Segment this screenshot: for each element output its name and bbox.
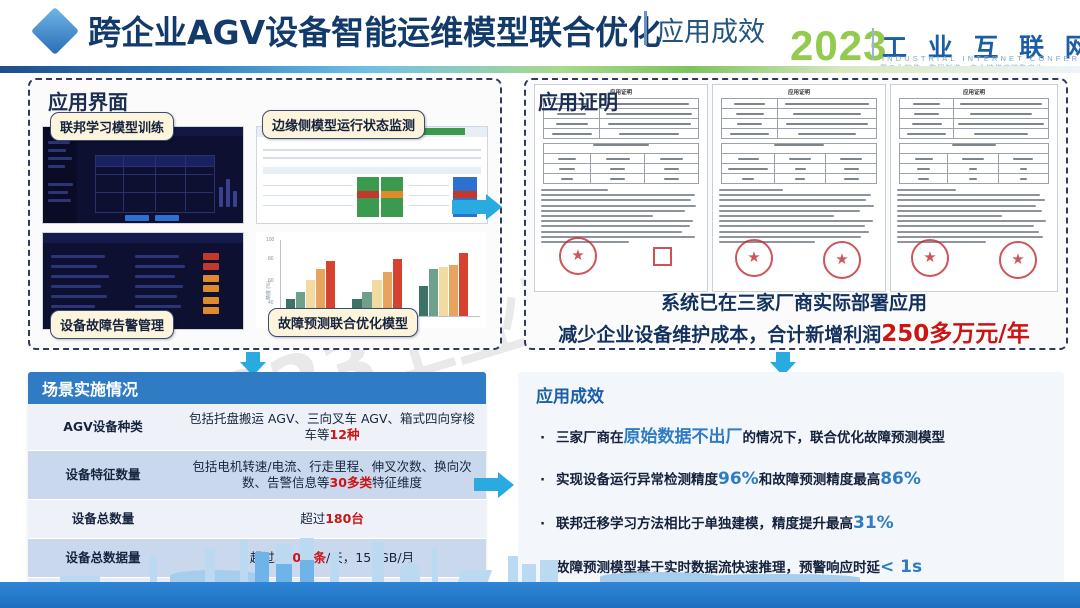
chip-edge-monitoring[interactable]: 边缘侧模型运行状态监测 xyxy=(262,110,425,139)
alarm-line xyxy=(135,255,179,258)
banner-line2-text: 减少企业设备维护成本，合计新增利润 xyxy=(558,324,881,346)
mon-table-header xyxy=(263,167,481,174)
list-item: ·实现设备运行异常检测精度96%和故障预测精度最高86% xyxy=(540,468,921,489)
mon-cell-red xyxy=(357,191,379,198)
chart-bar xyxy=(459,253,468,316)
list-item: ·联邦迁移学习方法相比于单独建模，精度提升最高31% xyxy=(540,512,894,533)
mon-row-line xyxy=(409,185,449,186)
certificate-card-3: 应用证明 xyxy=(890,84,1058,292)
table-row-value: 超过180台 xyxy=(178,511,486,528)
mon-divider xyxy=(263,157,481,159)
table-row: 设备特征数量包括电机转速/电流、行走里程、伸叉次数、换向次数、告警信息等30多类… xyxy=(28,451,486,500)
dash-side-line xyxy=(48,191,68,194)
alarm-line xyxy=(135,305,181,308)
bullet-dot: · xyxy=(540,472,556,488)
certificate-stamp xyxy=(911,239,949,277)
slide-header: 跨企业AGV设备智能运维模型联合优化 应用成效 2023 工 业 互 联 网 大… xyxy=(0,0,1080,68)
bullet-text: 联邦迁移学习方法相比于单独建模，精度提升最高 xyxy=(556,516,853,532)
mon-row-line xyxy=(263,205,353,206)
bullet-dot: · xyxy=(540,430,556,446)
dash-side-line xyxy=(48,157,72,160)
table-row-value: 包括托盘搬运 AGV、三向叉车 AGV、箱式四向穿梭车等12种 xyxy=(178,411,486,444)
chart-bars xyxy=(281,240,480,316)
chart-ytick: 40 xyxy=(268,300,274,306)
dash-table-divider xyxy=(95,174,213,175)
dash-side-line xyxy=(48,141,70,144)
alarm-line xyxy=(135,265,185,268)
certificate-row xyxy=(722,154,876,164)
certificate-stamp xyxy=(559,237,597,275)
banner-line2-highlight: 250多万元/年 xyxy=(881,321,1029,347)
table-row-key: AGV设备种类 xyxy=(28,419,178,435)
bullet-highlight-2: 86% xyxy=(880,469,921,489)
value-highlight: 30多类 xyxy=(330,475,372,490)
dash-side-line xyxy=(48,183,73,186)
alarm-topbar xyxy=(43,233,243,243)
chart-bar xyxy=(449,265,458,316)
chart-y-label: 精度 (%) xyxy=(265,281,272,300)
mon-row-line xyxy=(263,185,353,186)
dash-chart-bar xyxy=(226,179,230,207)
value-highlight: 180台 xyxy=(325,511,364,526)
bullet-text: 故障预测模型基于实时数据流快速推理，预警响应时延 xyxy=(556,560,880,576)
table-row-key: 设备总数据量 xyxy=(28,550,178,566)
certificate-row xyxy=(900,109,1048,119)
chart-bar xyxy=(429,269,438,317)
alarm-line xyxy=(135,295,177,298)
certificate-row xyxy=(900,174,1048,183)
banner-deployment-line1: 系统已在三家厂商实际部署应用 xyxy=(524,288,1064,315)
certificate-row xyxy=(544,174,698,183)
list-item: ·三家厂商在原始数据不出厂的情况下，联合优化故障预测模型 xyxy=(540,422,945,447)
scene-table-body: AGV设备种类包括托盘搬运 AGV、三向叉车 AGV、箱式四向穿梭车等12种设备… xyxy=(28,404,486,578)
table-row-value: 超过300万条/天，150GB/月 xyxy=(178,550,486,567)
bullet-highlight: 96% xyxy=(718,469,759,489)
skyline-water xyxy=(0,582,1080,608)
bullet-highlight: 31% xyxy=(853,513,894,533)
banner-deployment-line2: 减少企业设备维护成本，合计新增利润250多万元/年 xyxy=(524,314,1064,348)
certificate-row xyxy=(544,164,698,174)
alarm-line xyxy=(51,285,101,288)
alarm-badge-orange xyxy=(203,297,219,304)
bullet-text-mid: 和故障预测精度最高 xyxy=(759,472,881,488)
certificate-stamp xyxy=(735,239,773,277)
table-row: 设备总数量超过180台 xyxy=(28,500,486,539)
scene-table-title: 场景实施情况 xyxy=(28,372,486,404)
chip-prediction-model[interactable]: 故障预测联合优化模型 xyxy=(268,308,418,337)
alarm-badge-red xyxy=(203,253,219,260)
chart-bar xyxy=(439,267,448,316)
certificate-row xyxy=(544,129,698,138)
table-row-key: 设备总数量 xyxy=(28,511,178,527)
bullet-highlight: 原始数据不出厂 xyxy=(624,427,743,447)
certificate-subhead xyxy=(900,144,1048,154)
certificate-seal-square xyxy=(653,247,672,266)
results-panel: 应用成效 ·三家厂商在原始数据不出厂的情况下，联合优化故障预测模型·实现设备运行… xyxy=(518,372,1064,584)
table-row-value: 包括电机转速/电流、行走里程、伸叉次数、换向次数、告警信息等30多类特征维度 xyxy=(178,459,486,492)
certificate-row xyxy=(544,119,698,129)
list-item: ·故障预测模型基于实时数据流快速推理，预警响应时延< 1s xyxy=(540,556,922,577)
alarm-badge-orange xyxy=(203,285,219,292)
value-text: 超过 xyxy=(250,550,275,565)
dash-col-divider xyxy=(123,155,124,211)
certificate-paragraph xyxy=(541,189,701,246)
bullet-text: 实现设备运行异常检测精度 xyxy=(556,472,718,488)
diamond-icon xyxy=(31,7,79,55)
certificate-title: 应用证明 xyxy=(713,88,885,96)
certificate-row xyxy=(722,99,876,109)
dash-col-divider xyxy=(155,155,156,211)
alarm-badge-orange xyxy=(203,307,219,314)
certificate-row xyxy=(900,129,1048,138)
certificate-row xyxy=(900,99,1048,109)
table-row-key: 设备特征数量 xyxy=(28,467,178,483)
mon-cell-red xyxy=(453,191,477,198)
dash-side-line xyxy=(48,149,66,152)
dash-col-divider xyxy=(185,155,186,211)
dash-action-button[interactable] xyxy=(125,215,149,221)
value-suffix: 特征维度 xyxy=(372,475,422,490)
bullet-text: 三家厂商在 xyxy=(556,430,624,446)
bullet-dot: · xyxy=(540,516,556,532)
alarm-badge-orange xyxy=(203,275,219,282)
dash-action-button[interactable] xyxy=(155,215,179,221)
alarm-line xyxy=(51,275,109,278)
value-suffix: /天，150GB/月 xyxy=(326,550,414,565)
value-highlight: 12种 xyxy=(330,427,360,442)
certificate-row xyxy=(722,129,876,138)
header-rule xyxy=(0,66,1080,73)
alarm-line xyxy=(51,295,107,298)
certificate-subhead xyxy=(544,144,698,154)
page-subtitle: 应用成效 xyxy=(657,10,765,49)
chart-ytick: 80 xyxy=(268,256,274,262)
certificate-row xyxy=(722,119,876,129)
chart-ytick: 100 xyxy=(266,237,274,243)
certificate-row xyxy=(722,164,876,174)
panel-title-certificate: 应用证明 xyxy=(538,86,618,115)
certificate-card-2: 应用证明 xyxy=(712,84,886,292)
table-row: AGV设备种类包括托盘搬运 AGV、三向叉车 AGV、箱式四向穿梭车等12种 xyxy=(28,404,486,451)
bullet-dot: · xyxy=(540,560,556,576)
certificate-paragraph xyxy=(719,189,879,246)
mon-cell-orange xyxy=(381,191,403,198)
alarm-line xyxy=(135,275,175,278)
certificate-stamp xyxy=(823,241,861,279)
certificate-row xyxy=(722,174,876,183)
logo-divider xyxy=(872,28,874,60)
alarm-badge-red xyxy=(203,263,219,270)
dash-table-divider xyxy=(95,192,213,193)
certificate-row xyxy=(900,164,1048,174)
mon-row-line xyxy=(409,205,449,206)
certificate-card-1: 应用证明 xyxy=(534,84,708,292)
panel-title-application-interface: 应用界面 xyxy=(48,86,128,115)
certificate-row xyxy=(900,119,1048,129)
results-title: 应用成效 xyxy=(536,382,604,407)
mon-divider xyxy=(263,149,481,151)
certificate-subhead xyxy=(722,144,876,154)
slide-root: 跨企业AGV设备智能运维模型联合优化 应用成效 2023 工 业 互 联 网 大… xyxy=(0,0,1080,608)
alarm-line xyxy=(51,265,97,268)
chart-bar xyxy=(419,286,428,316)
scene-implementation-table: 场景实施情况 AGV设备种类包括托盘搬运 AGV、三向叉车 AGV、箱式四向穿梭… xyxy=(28,372,486,584)
title-divider xyxy=(644,11,647,45)
certificate-paragraph xyxy=(897,189,1051,246)
certificate-stamp xyxy=(999,241,1037,279)
skyline-building xyxy=(508,556,518,582)
dash-side-line xyxy=(48,199,71,202)
alarm-line xyxy=(51,255,105,258)
dash-chart-bar xyxy=(233,191,237,207)
chip-fault-alarm[interactable]: 设备故障告警管理 xyxy=(50,310,174,339)
dash-chart-bar xyxy=(219,187,223,207)
chip-federated-training[interactable]: 联邦学习模型训练 xyxy=(50,112,174,141)
table-row: 设备总数据量超过300万条/天，150GB/月 xyxy=(28,539,486,578)
bullet-text-post: 的情况下，联合优化故障预测模型 xyxy=(743,430,946,446)
value-highlight: 300万条 xyxy=(275,550,326,565)
page-title: 跨企业AGV设备智能运维模型联合优化 xyxy=(88,6,661,54)
conference-name-en: INDUSTRIAL INTERNET CONFERENCE xyxy=(882,54,1080,63)
certificate-row xyxy=(722,109,876,119)
value-text: 超过 xyxy=(300,511,325,526)
certificate-row xyxy=(900,154,1048,164)
alarm-line xyxy=(51,305,95,308)
certificate-row xyxy=(544,154,698,164)
alarm-line xyxy=(135,285,183,288)
bullet-highlight: < 1s xyxy=(880,557,922,577)
mon-row-line xyxy=(409,195,449,196)
dash-side-line xyxy=(48,165,65,168)
certificate-title: 应用证明 xyxy=(891,88,1057,96)
mon-row-line xyxy=(263,195,353,196)
